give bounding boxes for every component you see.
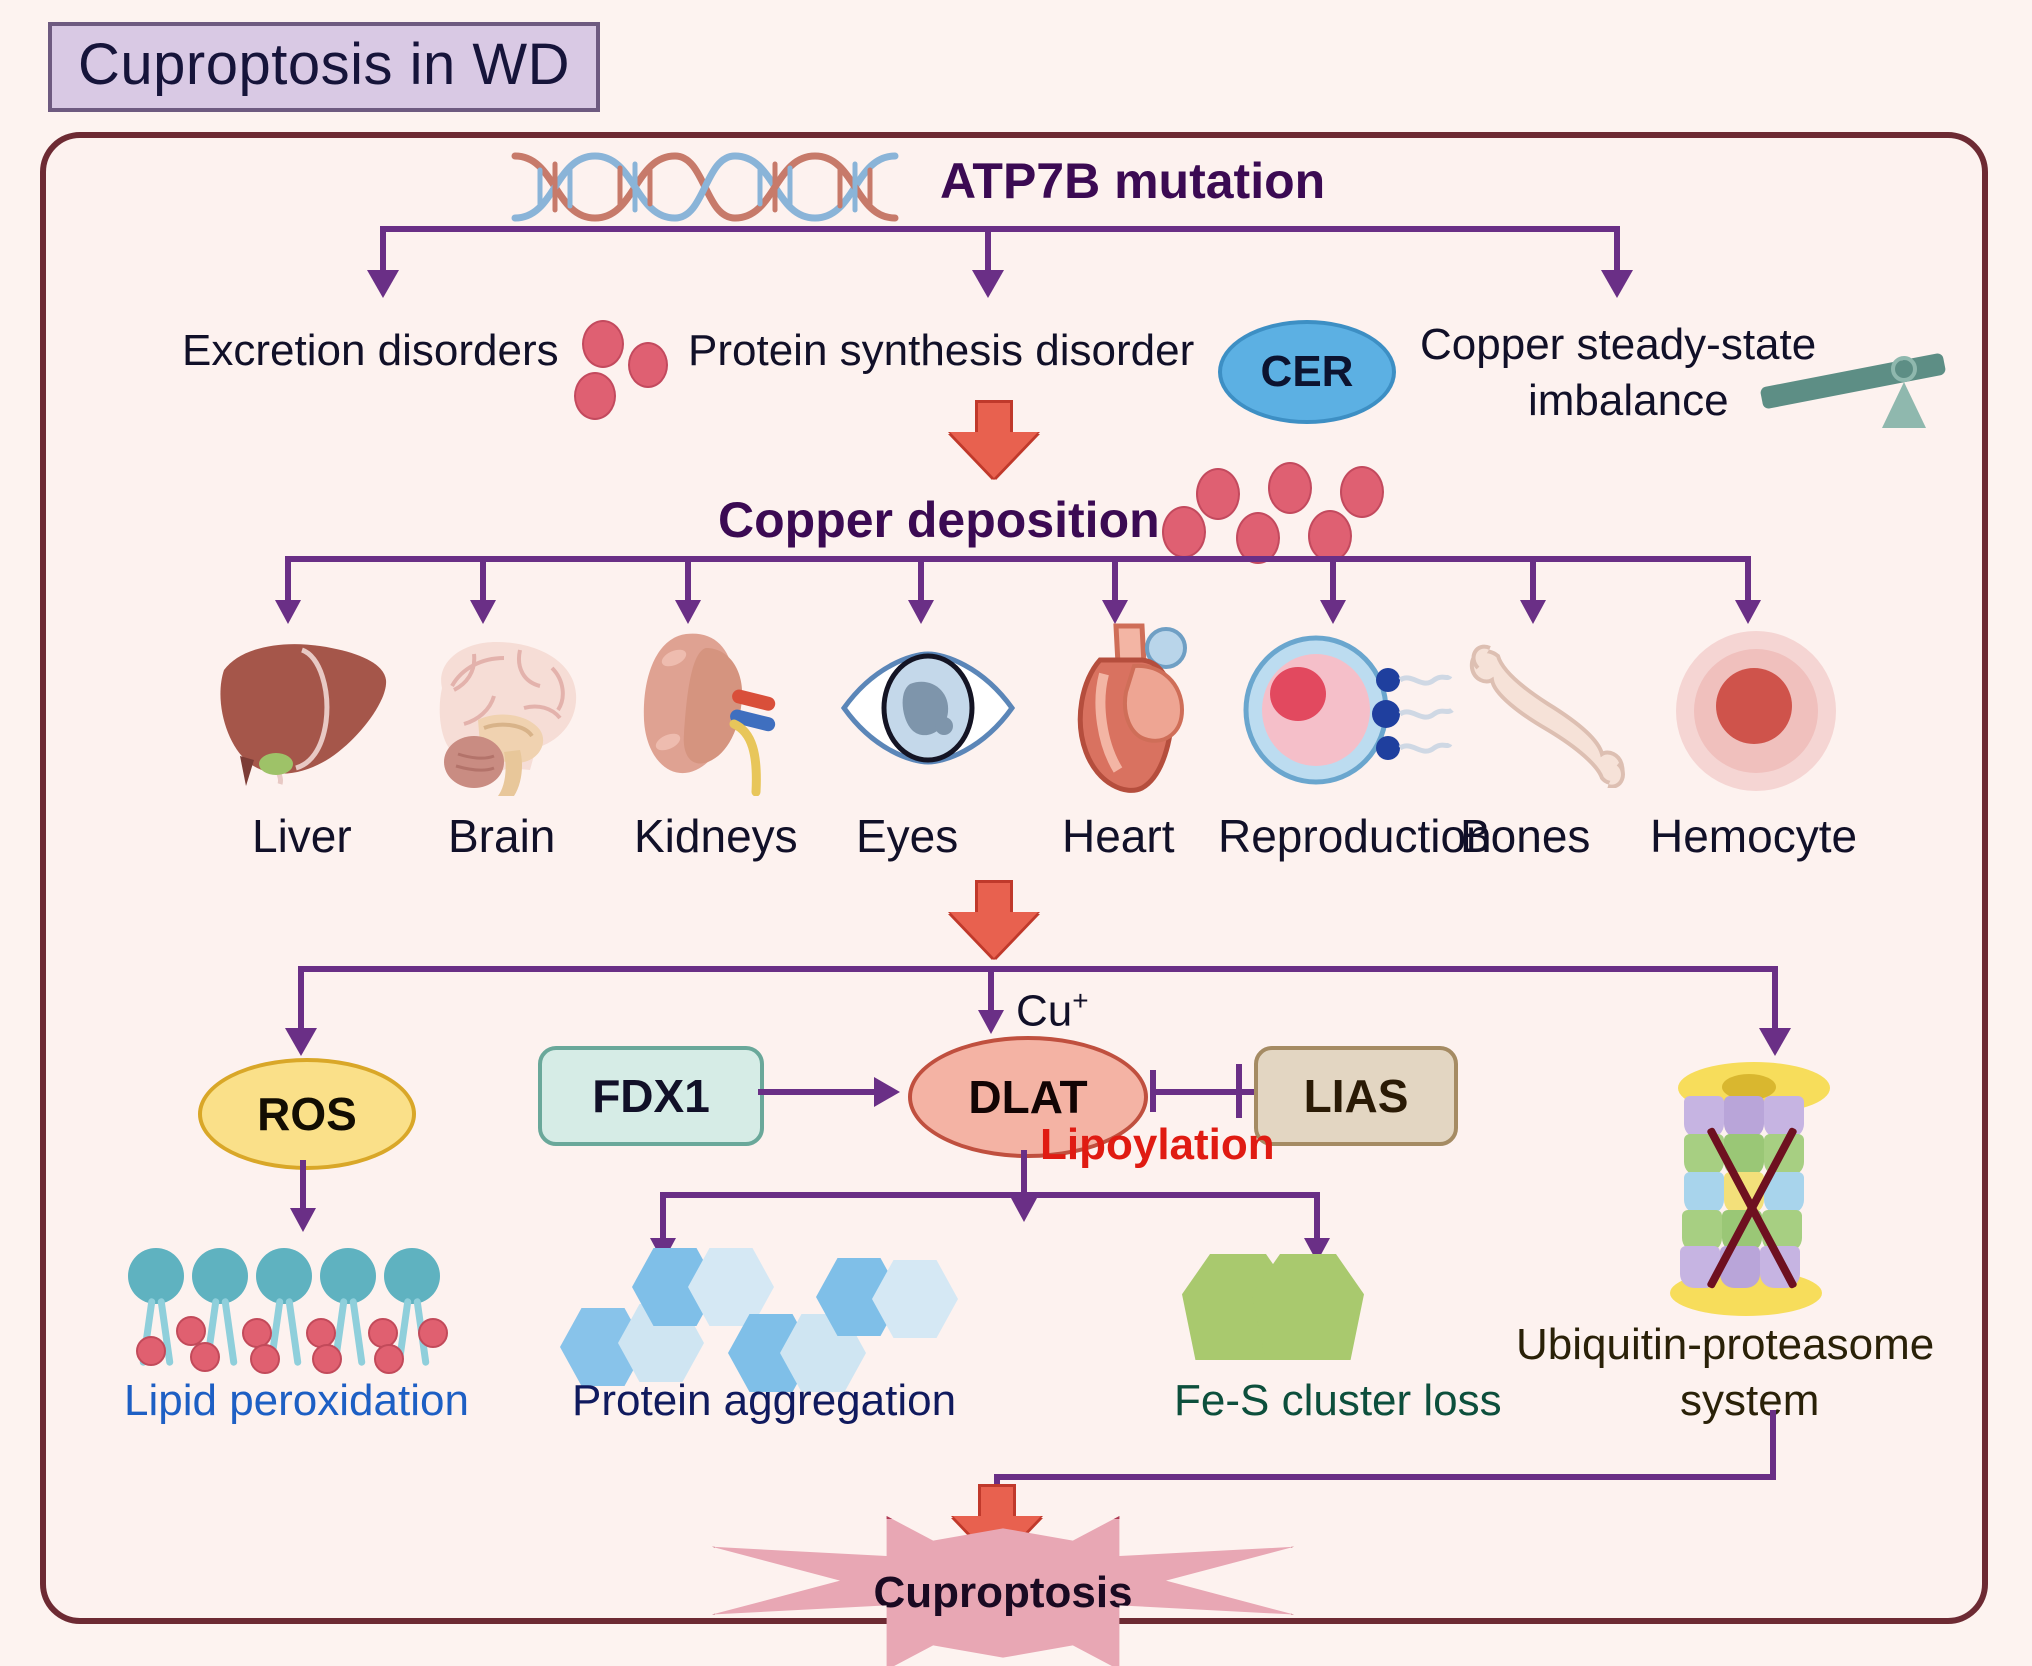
arrow-to-brain bbox=[470, 600, 496, 624]
outcome-label-lipid-peroxidation: Lipid peroxidation bbox=[124, 1378, 469, 1424]
arrow-to-ros bbox=[285, 1028, 317, 1056]
organ-stem bbox=[1112, 556, 1118, 604]
fdx1-label: FDX1 bbox=[592, 1069, 710, 1123]
arrow-to-proteasome bbox=[1759, 1028, 1791, 1056]
hexagon-cluster-icon bbox=[560, 1248, 960, 1378]
liver-icon bbox=[210, 630, 390, 790]
heart-icon bbox=[1060, 620, 1210, 798]
organ-stem bbox=[1330, 556, 1336, 604]
ups-down-line bbox=[1770, 1410, 1776, 1480]
outcome-label-protein-aggregation: Protein aggregation bbox=[572, 1378, 956, 1424]
red-arrow-to-mechanism bbox=[948, 880, 1040, 962]
organ-label-heart: Heart bbox=[1062, 812, 1174, 860]
branch-stem-left bbox=[380, 226, 386, 274]
lipoylation-branch-stem-right bbox=[1314, 1192, 1320, 1242]
organ-branch-bar bbox=[285, 556, 1745, 562]
organ-stem bbox=[480, 556, 486, 604]
cu-symbol: Cu bbox=[1016, 987, 1072, 1036]
copper-dot bbox=[574, 372, 616, 420]
arrow-to-kidneys bbox=[675, 600, 701, 624]
dna-helix-icon bbox=[510, 148, 900, 226]
branch-stem-mid bbox=[985, 226, 991, 274]
organ-stem bbox=[685, 556, 691, 604]
arrow-to-reproduction bbox=[1320, 600, 1346, 624]
bottom-convergence-bar bbox=[994, 1474, 1776, 1480]
ros-to-lipid-line bbox=[300, 1160, 306, 1212]
organ-label-eyes: Eyes bbox=[856, 812, 958, 860]
seesaw-balance-icon bbox=[1760, 340, 1950, 430]
copper-dot bbox=[1196, 468, 1240, 520]
mechanism-stem-right bbox=[1772, 966, 1778, 1032]
organ-label-liver: Liver bbox=[252, 812, 352, 860]
page-title: Cuproptosis in WD bbox=[78, 32, 570, 97]
oocyte-sperm-icon bbox=[1236, 632, 1466, 792]
dlat-label: DLAT bbox=[968, 1070, 1087, 1124]
figure-title-badge: Cuproptosis in WD bbox=[48, 22, 600, 112]
cer-badge-label: CER bbox=[1261, 347, 1354, 397]
ros-node: ROS bbox=[198, 1058, 416, 1170]
outcome-label-ups-line1: Ubiquitin-proteasome bbox=[1516, 1322, 1934, 1368]
cer-badge: CER bbox=[1218, 320, 1396, 424]
copper-dot bbox=[628, 342, 668, 388]
bone-icon bbox=[1468, 638, 1628, 788]
cu-charge: + bbox=[1072, 985, 1088, 1016]
lipoylation-branch-stem-left bbox=[660, 1192, 666, 1242]
cuproptosis-label: Cuproptosis bbox=[873, 1568, 1132, 1618]
cause-label-excretion: Excretion disorders bbox=[182, 328, 559, 374]
organ-stem bbox=[918, 556, 924, 604]
arrow-fdx1-to-dlat bbox=[874, 1077, 900, 1107]
lipoylation-branch-bar bbox=[660, 1192, 1320, 1198]
arrow-to-dlat-cu bbox=[978, 1010, 1004, 1034]
copper-dot bbox=[1340, 466, 1384, 518]
cause-label-protein-synthesis: Protein synthesis disorder bbox=[688, 328, 1194, 374]
arrow-to-excretion bbox=[367, 270, 399, 298]
copper-deposition-label: Copper deposition bbox=[718, 494, 1160, 547]
lias-inhibit-bar-left bbox=[1150, 1070, 1156, 1112]
arrow-dlat-down bbox=[1011, 1198, 1037, 1222]
lipoylation-label: Lipoylation bbox=[1040, 1122, 1275, 1168]
copper-dot bbox=[582, 320, 624, 368]
arrow-to-bones bbox=[1520, 600, 1546, 624]
organ-label-reproduction: Reproduction bbox=[1218, 812, 1492, 860]
organ-stem bbox=[285, 556, 291, 604]
kidney-icon bbox=[630, 624, 780, 796]
organ-label-bones: Bones bbox=[1460, 812, 1590, 860]
arrow-to-eyes bbox=[908, 600, 934, 624]
arrow-ros-to-lipid bbox=[290, 1208, 316, 1232]
copper-dot bbox=[1162, 506, 1206, 558]
lias-label: LIAS bbox=[1304, 1069, 1409, 1123]
ros-label: ROS bbox=[257, 1087, 357, 1141]
cu-ion-label: Cu+ bbox=[1016, 986, 1089, 1035]
atp7b-mutation-label: ATP7B mutation bbox=[940, 155, 1325, 208]
branch-stem-right bbox=[1614, 226, 1620, 274]
fdx1-node: FDX1 bbox=[538, 1046, 764, 1146]
organ-label-brain: Brain bbox=[448, 812, 555, 860]
cause-label-imbalance-line2: imbalance bbox=[1528, 378, 1729, 424]
figure-canvas: Cuproptosis in WD ATP7B mutatio bbox=[0, 0, 2032, 1666]
red-arrow-to-deposition bbox=[948, 400, 1040, 482]
organ-stem bbox=[1745, 556, 1751, 604]
brain-icon bbox=[412, 628, 592, 796]
fe-s-cluster-icon bbox=[1182, 1254, 1372, 1364]
organ-label-kidneys: Kidneys bbox=[634, 812, 798, 860]
mechanism-stem-mid bbox=[988, 966, 994, 1014]
lipid-bilayer-icon bbox=[120, 1248, 450, 1368]
lias-node: LIAS bbox=[1254, 1046, 1458, 1146]
copper-dot bbox=[1268, 462, 1312, 514]
organ-stem bbox=[1530, 556, 1536, 604]
arrow-to-hemocyte bbox=[1735, 600, 1761, 624]
outcome-label-ups-line2: system bbox=[1680, 1378, 1819, 1424]
lias-inhibit-bar-right bbox=[1236, 1064, 1242, 1118]
cause-label-imbalance-line1: Copper steady-state bbox=[1420, 322, 1816, 368]
mechanism-branch-bar bbox=[298, 966, 1778, 972]
arrow-to-liver bbox=[275, 600, 301, 624]
branch-bar-top bbox=[380, 226, 1620, 232]
organ-label-hemocyte: Hemocyte bbox=[1650, 812, 1857, 860]
mechanism-stem-left bbox=[298, 966, 304, 1032]
arrow-to-copper-imbalance bbox=[1601, 270, 1633, 298]
fdx1-to-dlat-line bbox=[758, 1089, 878, 1095]
red-blood-cell-icon bbox=[1672, 628, 1840, 794]
eye-icon bbox=[838, 650, 1018, 766]
proteasome-blocked-icon bbox=[1660, 1062, 1860, 1322]
copper-dot bbox=[1308, 510, 1352, 562]
arrow-to-protein-synthesis bbox=[972, 270, 1004, 298]
outcome-label-fes-cluster-loss: Fe-S cluster loss bbox=[1174, 1378, 1502, 1424]
